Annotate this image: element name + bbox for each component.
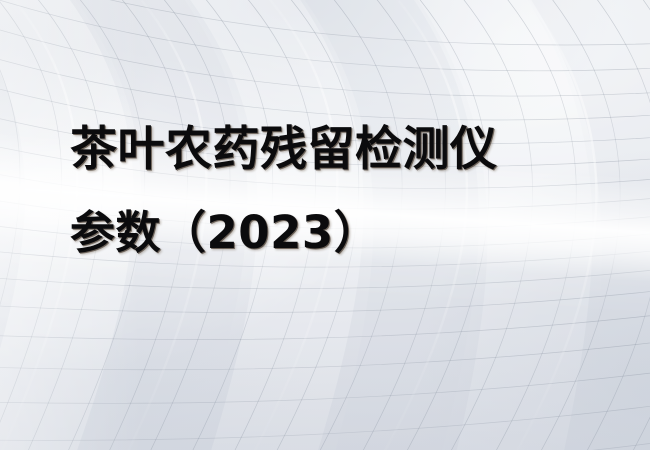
banner-title-line-1: 茶叶农药残留检测仪 bbox=[70, 118, 630, 182]
banner-title-line-2: 参数（2023） bbox=[70, 202, 630, 264]
title-banner: 茶叶农药残留检测仪 参数（2023） bbox=[0, 0, 650, 450]
banner-title: 茶叶农药残留检测仪 参数（2023） bbox=[70, 118, 630, 264]
